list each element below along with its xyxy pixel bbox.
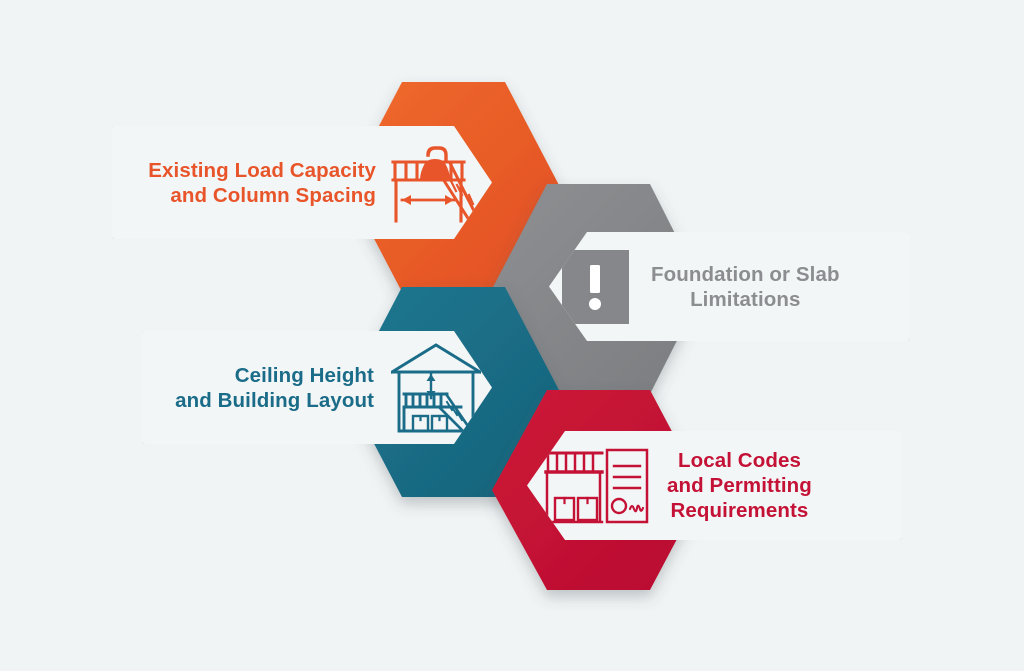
panel-label-local-codes-permitting: Local Codes and Permitting Requirements: [667, 448, 812, 523]
panel-label-existing-load-capacity: Existing Load Capacity and Column Spacin…: [148, 158, 376, 208]
panel-label-foundation-or-slab-limitations: Foundation or Slab Limitations: [651, 262, 840, 312]
exclamation-tile: [562, 250, 629, 324]
panel-existing-load-capacity[interactable]: Existing Load Capacity and Column Spacin…: [112, 126, 492, 239]
panel-label-ceiling-height-building-layout: Ceiling Height and Building Layout: [175, 363, 374, 413]
panel-foundation-or-slab-limitations[interactable]: Foundation or Slab Limitations: [549, 232, 910, 341]
infographic-canvas: Existing Load Capacity and Column Spacin…: [0, 0, 1024, 671]
mezzanine-load-stairs-icon: [386, 137, 482, 229]
permit-document-icon: [541, 444, 651, 528]
panel-local-codes-permitting[interactable]: Local Codes and Permitting Requirements: [527, 431, 902, 540]
panel-ceiling-height-building-layout[interactable]: Ceiling Height and Building Layout: [142, 331, 492, 444]
